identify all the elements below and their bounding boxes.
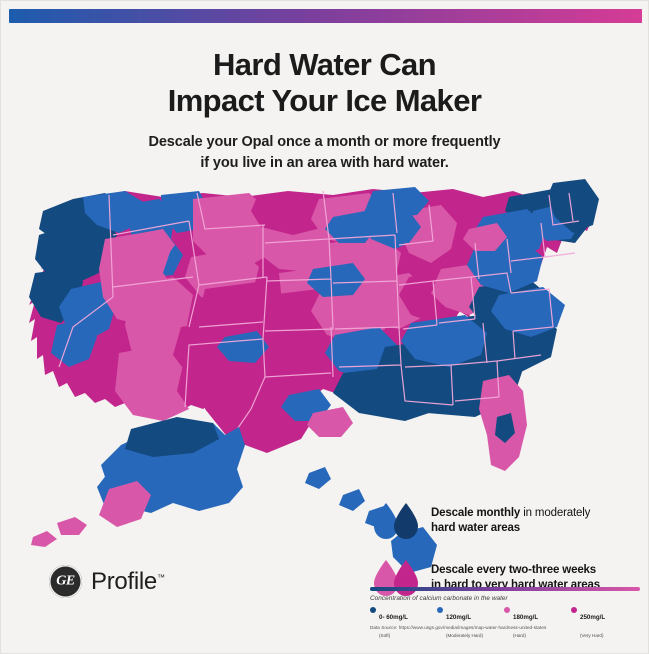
legend-bold-hard: Descale every two-three weeks: [431, 564, 596, 576]
scale-value-moderately-hard: 120mg/L: [446, 614, 471, 621]
map-region-aleutian-islands: [31, 517, 87, 547]
scale-dot-moderately-hard: [437, 607, 443, 613]
trademark-symbol: ™: [157, 573, 165, 582]
scale-label-soft: (Soft): [379, 633, 390, 638]
water-droplet-pair-blue-icon: [373, 501, 420, 542]
subtitle-line-1: Descale your Opal once a month or more f…: [148, 134, 500, 150]
scale-item-soft: 0- 60mg/L (Soft): [370, 606, 437, 642]
legend-line2-moderate: hard water areas: [431, 522, 520, 534]
scale-label-moderately-hard: (Moderately Hard): [446, 633, 483, 638]
title-line-1: Hard Water Can: [213, 47, 436, 82]
scale-value-very-hard: 250mg/L: [580, 614, 605, 621]
scale-gradient-bar: [370, 587, 640, 591]
legend-rest-moderate: in moderately: [520, 507, 590, 519]
scale-label-hard: (Hard): [513, 633, 526, 638]
page-title: Hard Water Can Impact Your Ice Maker: [1, 47, 648, 119]
profile-word-text: Profile: [91, 568, 157, 595]
legend-text-moderate: Descale monthly in moderately hard water…: [431, 501, 590, 536]
scale-item-hard: 180mg/L (Hard): [504, 606, 571, 642]
scale-dot-soft: [370, 607, 376, 613]
scale-value-soft: 0- 60mg/L: [379, 614, 408, 621]
title-line-2: Impact Your Ice Maker: [1, 83, 648, 119]
concentration-scale-legend: Concentration of calcium carbonate in th…: [370, 587, 640, 642]
scale-item-moderately-hard: 120mg/L (Moderately Hard): [437, 606, 504, 642]
scale-value-hard: 180mg/L: [513, 614, 538, 621]
infographic-page: Hard Water Can Impact Your Ice Maker Des…: [0, 0, 649, 654]
scale-dot-very-hard: [571, 607, 577, 613]
top-gradient-bar: [9, 9, 642, 23]
map-region-alaska: [31, 417, 245, 547]
map-lower48: [29, 179, 599, 471]
scale-caption: Concentration of calcium carbonate in th…: [370, 595, 640, 602]
page-subtitle: Descale your Opal once a month or more f…: [1, 132, 648, 174]
subtitle-line-2: if you live in an area with hard water.: [200, 155, 448, 171]
scale-items: 0- 60mg/L (Soft) 120mg/L (Moderately Har…: [370, 606, 640, 642]
ge-monogram-icon: GE: [49, 565, 82, 598]
ge-monogram-text: GE: [56, 573, 74, 589]
scale-label-very-hard: (Very Hard): [580, 633, 603, 638]
ge-profile-logo: GE Profile™: [49, 565, 165, 598]
legend-row-moderate: Descale monthly in moderately hard water…: [373, 501, 623, 542]
data-source-text: Data Source: https://www.usgs.gov/media/…: [370, 625, 546, 630]
scale-item-very-hard: 250mg/L (Very Hard): [571, 606, 638, 642]
profile-wordmark: Profile™: [91, 568, 165, 596]
legend-bold-moderate: Descale monthly: [431, 507, 520, 519]
scale-dot-hard: [504, 607, 510, 613]
